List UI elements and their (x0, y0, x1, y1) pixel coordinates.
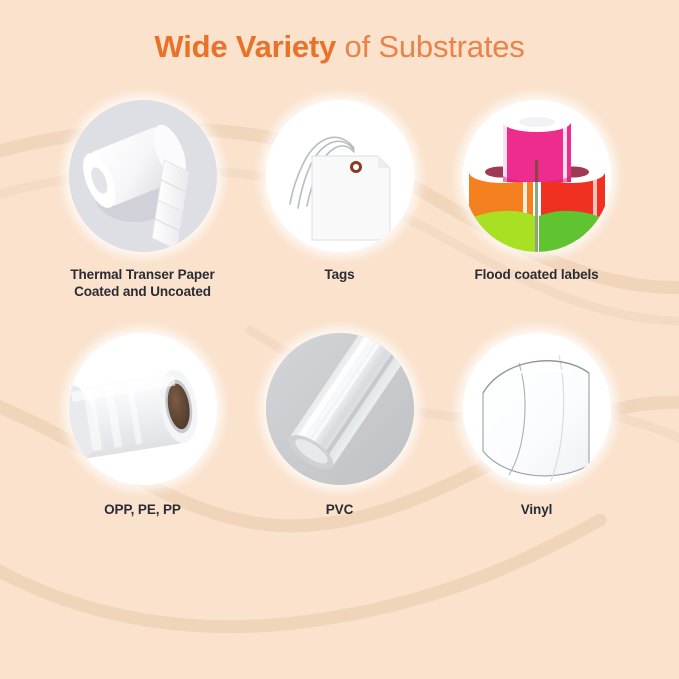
thermal-transfer-paper-caption: Thermal Transer Paper Coated and Uncoate… (70, 266, 214, 301)
substrates-grid: Thermal Transer Paper Coated and Uncoate… (20, 100, 660, 518)
substrate-item-vinyl[interactable]: Vinyl (442, 333, 632, 518)
vinyl-circle (463, 333, 611, 485)
substrate-item-tags[interactable]: Tags (245, 100, 435, 283)
pvc-caption: PVC (326, 501, 353, 518)
opp-pe-pp-circle (69, 333, 217, 485)
thermal-transfer-paper-circle (69, 100, 217, 252)
substrates-row-bottom: OPP, PE, PP (20, 333, 660, 518)
substrate-item-flood-coated-labels[interactable]: Flood coated labels (442, 100, 632, 283)
tags-circle (266, 100, 414, 252)
substrate-item-pvc[interactable]: PVC (245, 333, 435, 518)
pvc-circle (266, 333, 414, 485)
substrate-item-opp-pe-pp[interactable]: OPP, PE, PP (48, 333, 238, 518)
tags-caption: Tags (324, 266, 354, 283)
label-roll-icon (69, 100, 217, 252)
colored-label-rolls-icon (463, 100, 611, 252)
poster-root: Wide Variety of Substrates (0, 0, 679, 679)
title-light: of Substrates (336, 29, 524, 64)
vinyl-caption: Vinyl (521, 501, 553, 518)
hang-tag-icon (266, 100, 414, 252)
substrates-row-top: Thermal Transer Paper Coated and Uncoate… (20, 100, 660, 301)
stretch-film-roll-icon (69, 333, 217, 485)
substrate-item-thermal-transfer-paper[interactable]: Thermal Transer Paper Coated and Uncoate… (48, 100, 238, 301)
flood-coated-labels-caption: Flood coated labels (474, 266, 598, 283)
title-strong: Wide Variety (154, 29, 336, 64)
opp-pe-pp-caption: OPP, PE, PP (104, 501, 181, 518)
page-title: Wide Variety of Substrates (154, 30, 524, 64)
flood-coated-labels-circle (463, 100, 611, 252)
pvc-sheet-icon (266, 333, 414, 485)
vinyl-film-icon (463, 333, 611, 485)
